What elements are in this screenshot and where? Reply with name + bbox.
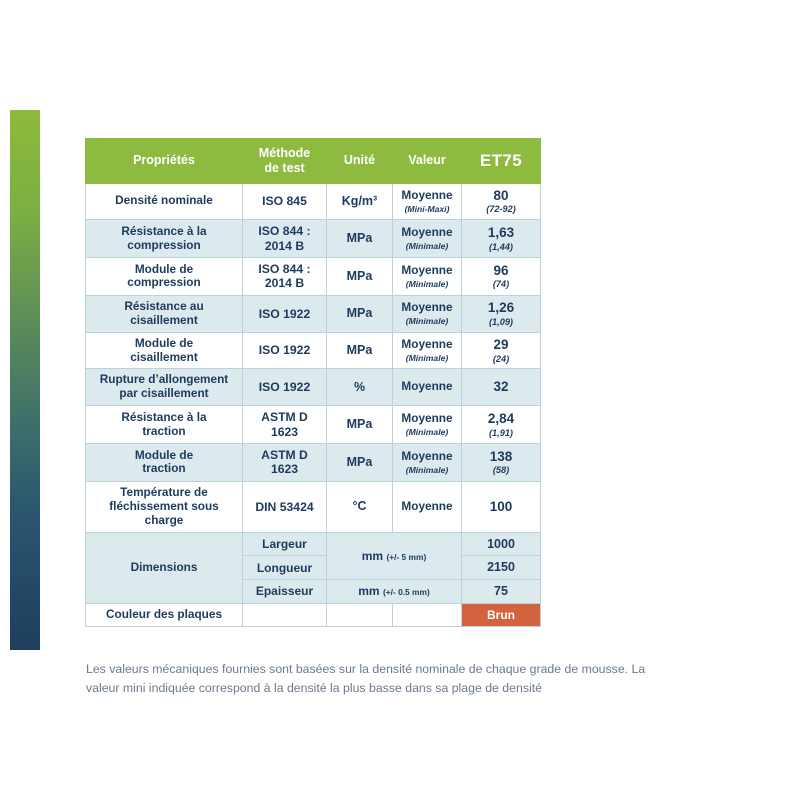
row-grade: 96 (74)	[462, 258, 541, 296]
specification-table-container: Propriétés Méthode de test Unité Valeur …	[85, 138, 540, 627]
row-grade-sub: (1,44)	[465, 242, 537, 253]
row-value-main: Moyenne	[401, 411, 452, 425]
specification-table: Propriétés Méthode de test Unité Valeur …	[85, 138, 541, 627]
row-value-main: Moyenne	[401, 337, 452, 351]
dimensions-unit-main: mm	[362, 549, 383, 563]
row-method: ISO 844 : 2014 B	[243, 220, 327, 258]
row-unit: MPa	[327, 220, 393, 258]
row-unit: MPa	[327, 258, 393, 296]
row-property-line1: Résistance au	[124, 299, 203, 313]
row-property: Densité nominale	[86, 183, 243, 220]
row-value: Moyenne (Minimale)	[393, 295, 462, 332]
row-method: ISO 1922	[243, 295, 327, 332]
row-property-line2: fléchissement sous	[109, 499, 219, 513]
row-grade-main: 80	[493, 188, 508, 203]
row-grade: 100	[462, 481, 541, 532]
colour-swatch-brun: Brun	[462, 603, 541, 626]
dimensions-tolerance: (+/- 5 mm)	[386, 552, 426, 562]
colour-empty-value	[393, 603, 462, 626]
row-method-line1: ISO 844 :	[258, 224, 310, 238]
row-method: ISO 845	[243, 183, 327, 220]
row-method: ASTM D 1623	[243, 406, 327, 444]
row-method: DIN 53424	[243, 481, 327, 532]
row-grade-main: 96	[493, 263, 508, 278]
dimension-value: 2150	[462, 556, 541, 580]
row-unit: %	[327, 369, 393, 406]
row-property: Module de traction	[86, 444, 243, 482]
table-header-row: Propriétés Méthode de test Unité Valeur …	[86, 139, 541, 184]
table-row: Rupture d’allongement par cisaillement I…	[86, 369, 541, 406]
row-grade-main: 32	[493, 379, 508, 394]
row-value-sub: (Minimale)	[396, 465, 458, 475]
row-property-line1: Module de	[135, 262, 193, 276]
row-property-line1: Résistance à la	[121, 224, 206, 238]
row-property-line2: compression	[127, 275, 200, 289]
row-grade-main: 1,26	[488, 300, 514, 315]
row-property: Module de compression	[86, 258, 243, 296]
row-property: Résistance à la compression	[86, 220, 243, 258]
dimensions-row-largeur: Dimensions Largeur mm (+/- 5 mm) 1000	[86, 532, 541, 556]
colour-row: Couleur des plaques Brun	[86, 603, 541, 626]
row-property-line1: Résistance à la	[121, 410, 206, 424]
table-row: Température de fléchissement sous charge…	[86, 481, 541, 532]
row-value-sub: (Minimale)	[396, 353, 458, 363]
row-method-line1: ISO 844 :	[258, 262, 310, 276]
table-row: Densité nominale ISO 845 Kg/m³ Moyenne (…	[86, 183, 541, 220]
row-grade: 1,63 (1,44)	[462, 220, 541, 258]
row-grade: 2,84 (1,91)	[462, 406, 541, 444]
row-unit: MPa	[327, 295, 393, 332]
row-unit: MPa	[327, 332, 393, 369]
row-method: ISO 1922	[243, 332, 327, 369]
row-value-main: Moyenne	[401, 300, 452, 314]
row-property: Rupture d’allongement par cisaillement	[86, 369, 243, 406]
table-row: Module de cisaillement ISO 1922 MPa Moye…	[86, 332, 541, 369]
gradient-accent-bar	[10, 110, 40, 650]
row-grade-sub: (24)	[465, 354, 537, 365]
row-grade: 29 (24)	[462, 332, 541, 369]
header-unit: Unité	[327, 139, 393, 184]
row-grade-sub: (58)	[465, 465, 537, 476]
header-test-method-line2: de test	[264, 161, 304, 175]
footnote-text: Les valeurs mécaniques fournies sont bas…	[86, 660, 656, 698]
row-grade-main: 1,63	[488, 225, 514, 240]
colour-empty-method	[243, 603, 327, 626]
dimensions-label: Dimensions	[86, 532, 243, 603]
row-grade: 32	[462, 369, 541, 406]
row-grade-main: 29	[493, 337, 508, 352]
row-property: Module de cisaillement	[86, 332, 243, 369]
row-property-line2: par cisaillement	[119, 386, 208, 400]
row-unit: MPa	[327, 444, 393, 482]
row-property-line2: traction	[142, 461, 185, 475]
row-grade-main: 138	[490, 449, 513, 464]
row-value-main: Moyenne	[401, 225, 452, 239]
row-property-line2: traction	[142, 424, 185, 438]
dimension-value: 75	[462, 580, 541, 604]
colour-empty-unit	[327, 603, 393, 626]
row-value-main: Moyenne	[401, 188, 452, 202]
row-property-line3: charge	[145, 513, 184, 527]
row-property: Résistance à la traction	[86, 406, 243, 444]
header-test-method-line1: Méthode	[259, 146, 310, 160]
row-value-main: Moyenne	[401, 379, 452, 393]
row-property-line1: Module de	[135, 336, 193, 350]
row-unit: °C	[327, 481, 393, 532]
table-row: Résistance à la traction ASTM D 1623 MPa…	[86, 406, 541, 444]
table-row: Module de compression ISO 844 : 2014 B M…	[86, 258, 541, 296]
row-method: ISO 1922	[243, 369, 327, 406]
table-row: Module de traction ASTM D 1623 MPa Moyen…	[86, 444, 541, 482]
dimensions-unit-main: mm	[358, 584, 379, 598]
row-value: Moyenne	[393, 369, 462, 406]
dimensions-unit-thickness: mm (+/- 0.5 mm)	[327, 580, 462, 604]
row-value-sub: (Minimale)	[396, 427, 458, 437]
row-value: Moyenne (Minimale)	[393, 444, 462, 482]
row-value: Moyenne (Mini-Maxi)	[393, 183, 462, 220]
row-property-line1: Module de	[135, 448, 193, 462]
row-value-main: Moyenne	[401, 499, 452, 513]
dimension-name: Epaisseur	[243, 580, 327, 604]
dimension-value: 1000	[462, 532, 541, 556]
row-grade-sub: (74)	[465, 279, 537, 290]
dimensions-unit-length: mm (+/- 5 mm)	[327, 532, 462, 580]
row-grade-sub: (1,91)	[465, 428, 537, 439]
row-value: Moyenne (Minimale)	[393, 406, 462, 444]
row-method-line2: 2014 B	[265, 276, 304, 290]
row-method: ASTM D 1623	[243, 444, 327, 482]
row-property-line2: compression	[127, 238, 200, 252]
row-grade: 138 (58)	[462, 444, 541, 482]
row-value-sub: (Minimale)	[396, 316, 458, 326]
dimension-name: Longueur	[243, 556, 327, 580]
row-value-sub: (Minimale)	[396, 279, 458, 289]
row-value-main: Moyenne	[401, 449, 452, 463]
row-grade: 1,26 (1,09)	[462, 295, 541, 332]
row-grade: 80 (72-92)	[462, 183, 541, 220]
dimensions-tolerance: (+/- 0.5 mm)	[383, 587, 430, 597]
row-property: Température de fléchissement sous charge	[86, 481, 243, 532]
row-unit: Kg/m³	[327, 183, 393, 220]
header-grade-et75: ET75	[462, 139, 541, 184]
table-row: Résistance au cisaillement ISO 1922 MPa …	[86, 295, 541, 332]
colour-label: Couleur des plaques	[86, 603, 243, 626]
row-value: Moyenne (Minimale)	[393, 220, 462, 258]
row-property-line2: cisaillement	[130, 313, 198, 327]
row-value-sub: (Minimale)	[396, 241, 458, 251]
row-value: Moyenne (Minimale)	[393, 258, 462, 296]
row-grade-main: 2,84	[488, 411, 514, 426]
table-row: Résistance à la compression ISO 844 : 20…	[86, 220, 541, 258]
header-value: Valeur	[393, 139, 462, 184]
header-properties: Propriétés	[86, 139, 243, 184]
row-grade-main: 100	[490, 499, 513, 514]
row-property-line1: Rupture d’allongement	[100, 372, 228, 386]
row-value: Moyenne (Minimale)	[393, 332, 462, 369]
row-value-main: Moyenne	[401, 263, 452, 277]
row-property-line1: Température de	[120, 485, 208, 499]
dimension-name: Largeur	[243, 532, 327, 556]
row-method: ISO 844 : 2014 B	[243, 258, 327, 296]
row-grade-sub: (1,09)	[465, 317, 537, 328]
row-method-line2: 2014 B	[265, 239, 304, 253]
row-property: Résistance au cisaillement	[86, 295, 243, 332]
row-unit: MPa	[327, 406, 393, 444]
row-value-sub: (Mini-Maxi)	[396, 204, 458, 214]
row-grade-sub: (72-92)	[465, 204, 537, 215]
header-test-method: Méthode de test	[243, 139, 327, 184]
row-value: Moyenne	[393, 481, 462, 532]
row-property-line2: cisaillement	[130, 350, 198, 364]
